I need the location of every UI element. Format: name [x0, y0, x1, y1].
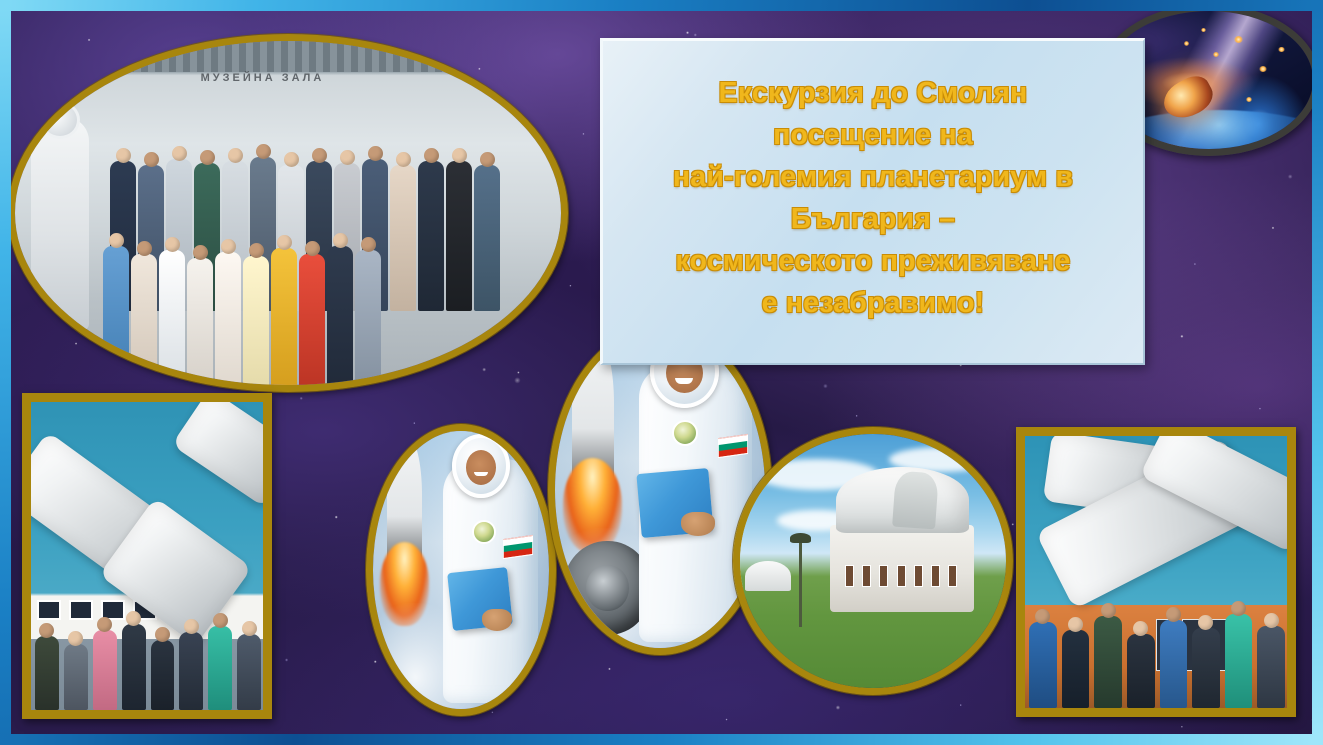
telescope-visit-photo[interactable] [1016, 427, 1296, 717]
title-text-box[interactable]: Екскурзия до Смолян посещение на най-гол… [600, 38, 1145, 365]
display-spacesuit [31, 117, 89, 330]
group-photo-image: МУЗЕЙНА ЗАЛА [15, 41, 561, 385]
group-photo-museum-hall[interactable]: МУЗЕЙНА ЗАЛА [8, 34, 568, 392]
lamp-post [799, 541, 802, 627]
child-astronaut-image-large [555, 332, 765, 648]
mission-patch [472, 520, 496, 544]
hand [482, 609, 512, 631]
observatory-image [740, 434, 1006, 688]
museum-hall-sign: МУЗЕЙНА ЗАЛА [201, 72, 325, 84]
visitor-crowd [31, 618, 263, 710]
ember [1184, 41, 1189, 46]
people-row-front [103, 246, 383, 392]
title-line-2: посещение на [773, 115, 973, 157]
dome-slit [892, 471, 938, 530]
student-crowd [1025, 616, 1287, 708]
ember [1201, 28, 1206, 32]
bulgarian-flag-patch [503, 535, 533, 559]
building-roof [15, 41, 561, 72]
spacesuit-helmet [452, 434, 510, 498]
secondary-dome [745, 561, 790, 591]
telescope-hall-image [31, 402, 263, 710]
child-astronaut-photo-large[interactable] [548, 325, 772, 655]
observatory-building-photo[interactable] [733, 427, 1013, 695]
title-line-1: Екскурзия до Смолян [719, 73, 1028, 115]
hand [681, 512, 715, 536]
child-astronaut-image-small [373, 431, 549, 709]
ember [1259, 66, 1267, 72]
title-line-5: космическото преживяване [675, 241, 1070, 283]
telescope-counterweight [172, 393, 272, 508]
telescope-visit-image [1025, 436, 1287, 708]
ember [1213, 52, 1219, 57]
presentation-slide: МУЗЕЙНА ЗАЛА [0, 0, 1323, 745]
title-line-4: България – [791, 199, 955, 241]
title-line-6: е незабравимо! [762, 283, 985, 325]
ember [1234, 36, 1243, 43]
title-line-3: най-големия планетариум в [673, 157, 1073, 199]
child-astronaut-photo-small[interactable] [366, 424, 556, 716]
ember [1246, 97, 1252, 102]
observatory-body [830, 525, 974, 611]
child-face [466, 450, 496, 485]
ember [1278, 47, 1285, 52]
telescope-hall-photo[interactable] [22, 393, 272, 719]
